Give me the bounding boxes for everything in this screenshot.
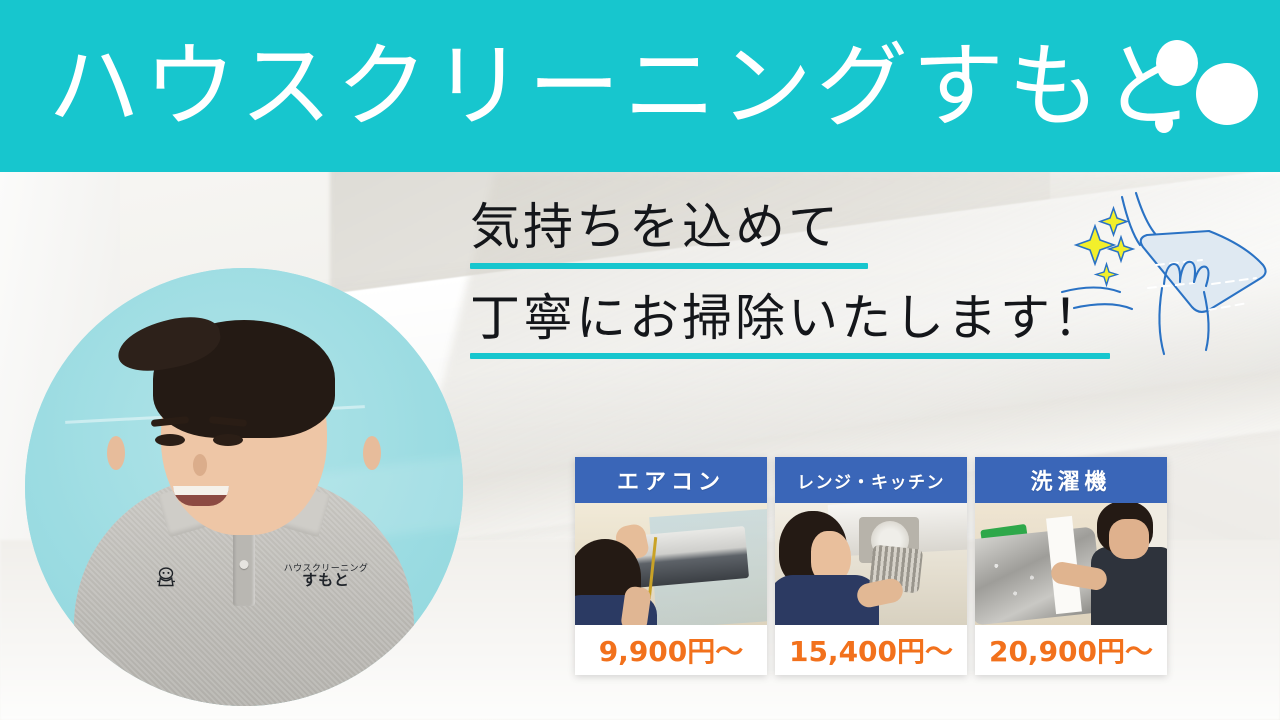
range-hood-cleaning-photo <box>775 503 967 625</box>
service-card-header: 洗濯機 <box>975 457 1167 503</box>
service-card-label: 洗濯機 <box>1030 464 1111 496</box>
promo-banner: ハウスクリーニングすもと <box>0 0 1280 720</box>
service-card-price-area: 20,900円〜 <box>975 625 1167 675</box>
service-card-price: 20,900円〜 <box>989 630 1153 670</box>
photo-aircon-unit <box>629 526 749 588</box>
tagline-underline-2 <box>470 353 1110 359</box>
service-card-price: 15,400円〜 <box>789 630 953 670</box>
service-card-header: レンジ・キッチン <box>775 457 967 503</box>
aircon-cleaning-photo <box>575 503 767 625</box>
avatar-ear-right <box>363 436 381 470</box>
tagline-line-2: 丁寧にお掃除いたします！ <box>470 287 1150 350</box>
avatar-eye-right <box>213 434 243 446</box>
avatar-eye-left <box>155 434 185 446</box>
service-card-label: レンジ・キッチン <box>797 468 945 493</box>
avatar-teeth <box>173 486 229 495</box>
avatar-button-bottom <box>240 560 249 569</box>
page-title: ハウスクリーニングすもと <box>48 18 1138 156</box>
tagline-row-2: 丁寧にお掃除いたします！ <box>470 287 1150 360</box>
bubble-medium-icon <box>1156 40 1198 86</box>
avatar-ear-left <box>107 436 125 470</box>
photo-worker-arm <box>620 585 652 625</box>
service-card-washer[interactable]: 洗濯機 20,900円〜 <box>975 457 1167 675</box>
service-card-kitchen[interactable]: レンジ・キッチン 15,400円〜 <box>775 457 967 675</box>
service-card-price-area: 15,400円〜 <box>775 625 967 675</box>
service-card-label: エアコン <box>617 464 725 496</box>
sparkle-icons <box>1076 208 1133 285</box>
shirt-logo: ハウスクリーニング すもと <box>261 564 391 589</box>
service-card-price: 9,900円〜 <box>599 630 744 670</box>
bubble-small-icon <box>1155 113 1173 133</box>
service-card-aircon[interactable]: エアコン 9,900円〜 <box>575 457 767 675</box>
tagline-line-1: 気持ちを込めて <box>470 196 1150 259</box>
service-card-header: エアコン <box>575 457 767 503</box>
avatar-nose <box>193 454 207 476</box>
service-card-list: エアコン 9,900円〜 レンジ・キッチン <box>575 457 1167 675</box>
bubble-large-icon <box>1196 63 1258 125</box>
header-bar: ハウスクリーニングすもと <box>0 0 1280 172</box>
avatar: ハウスクリーニング すもと <box>25 268 463 706</box>
tagline-row-1: 気持ちを込めて <box>470 196 1150 269</box>
photo-worker-face <box>1109 519 1149 559</box>
tagline-underline-1 <box>470 263 868 269</box>
hand-wiping-cloth-icon <box>1052 188 1280 368</box>
mascot-icon <box>153 566 179 592</box>
tagline-block: 気持ちを込めて 丁寧にお掃除いたします！ <box>470 196 1150 377</box>
shirt-logo-line2: すもと <box>261 573 391 589</box>
service-card-price-area: 9,900円〜 <box>575 625 767 675</box>
washing-machine-cleaning-photo <box>975 503 1167 625</box>
